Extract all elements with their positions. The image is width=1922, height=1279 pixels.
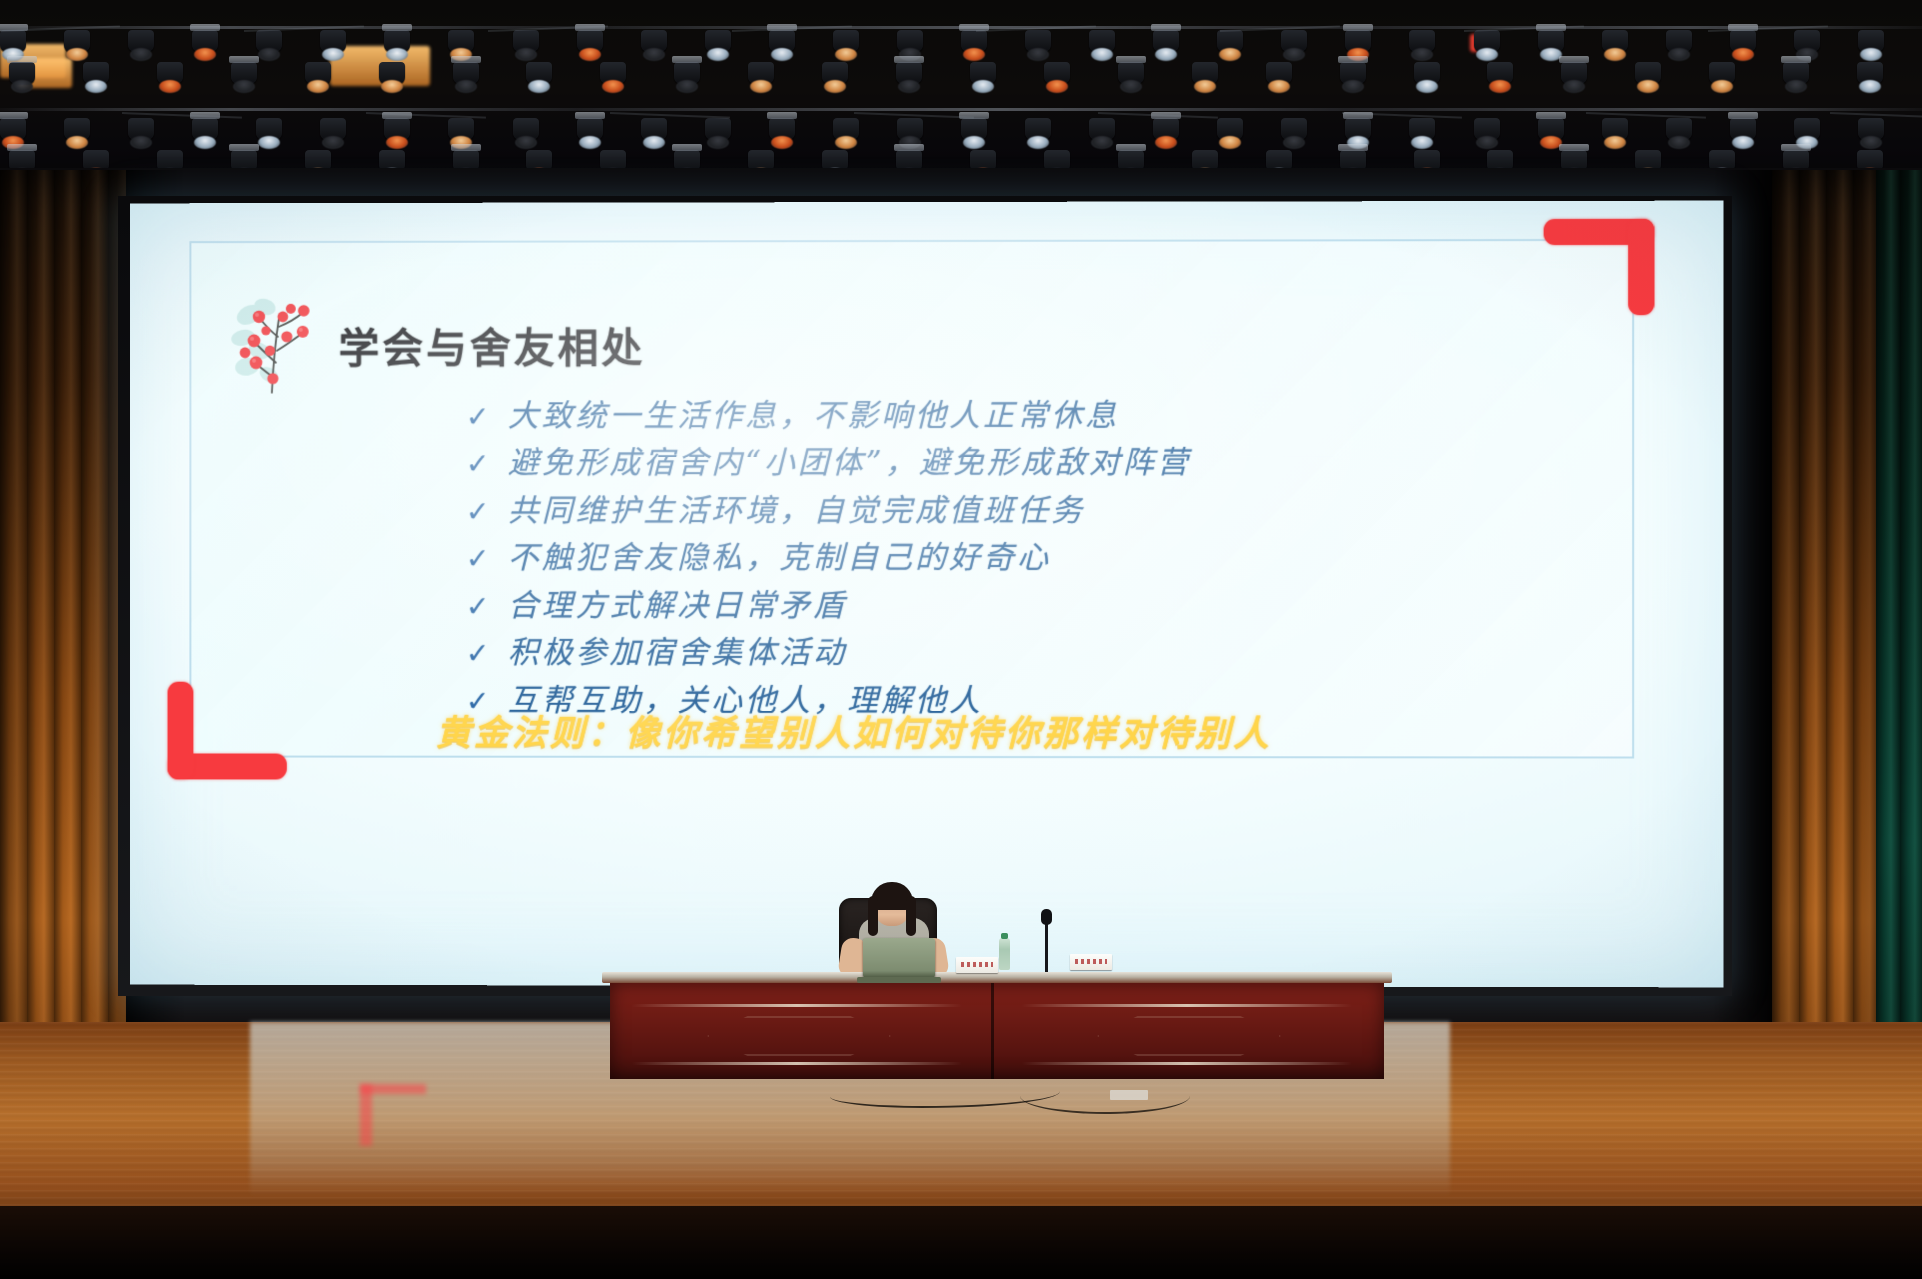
stage-spotlight: [1666, 30, 1692, 52]
stage-spotlight: [822, 62, 848, 84]
slide-bullet-text: 共同维护生活环境，自觉完成值班任务: [508, 495, 1085, 529]
stage-spotlight: [769, 30, 795, 52]
stage-spotlight: [1730, 30, 1756, 52]
stage-spotlight: [577, 118, 603, 140]
microphone: [1045, 920, 1048, 972]
stage-spotlight: [384, 30, 410, 52]
stage-spotlight: [1602, 30, 1628, 52]
stage-spotlight: [448, 30, 474, 52]
stage-spotlight: [1538, 118, 1564, 140]
barn-door-shutter: [1116, 56, 1146, 63]
slide-bullet-text: 大致统一生活作息，不影响他人正常休息: [508, 400, 1119, 434]
barn-door-shutter: [1338, 144, 1368, 151]
stage-spotlight: [320, 118, 346, 140]
name-placard: [1070, 954, 1112, 970]
corner-bracket-bottom-left: [168, 684, 277, 780]
check-icon: ✓: [466, 498, 508, 526]
stage-spotlight: [192, 118, 218, 140]
stage-spotlight: [1474, 118, 1500, 140]
table-trim-line: [1022, 1062, 1352, 1065]
stage-spotlight: [192, 30, 218, 52]
stage-spotlight: [1857, 62, 1883, 84]
barn-door-shutter: [672, 144, 702, 151]
stage-spotlight: [577, 30, 603, 52]
barn-door-shutter: [1116, 144, 1146, 151]
stage-spotlight: [1217, 30, 1243, 52]
table-trim-line: [632, 1062, 962, 1065]
floor-cable: [1020, 1078, 1190, 1114]
stage-spotlight: [0, 118, 26, 140]
stage-spotlight: [1025, 118, 1051, 140]
slide-bullet-text: 合理方式解决日常矛盾: [508, 590, 847, 623]
barn-door-shutter: [1559, 56, 1589, 63]
stage-curtain-right-green: [1876, 170, 1922, 1130]
stage-spotlight: [256, 30, 282, 52]
slide-bullet-text: 不触犯舍友隐私，克制自己的好奇心: [508, 542, 1051, 576]
barn-door-shutter: [1781, 56, 1811, 63]
stage-spotlight: [1025, 30, 1051, 52]
stage-spotlight: [1345, 30, 1371, 52]
laptop: [863, 938, 935, 978]
barn-door-shutter: [7, 56, 37, 63]
paper-on-floor: [1110, 1090, 1148, 1100]
slide-bullet-item: ✓避免形成宿舍内“小团体”，避免形成敌对阵营: [466, 447, 1587, 481]
slide-bullet-item: ✓不触犯舍友隐私，克制自己的好奇心: [466, 542, 1587, 576]
stage-curtain-left: [0, 170, 126, 1130]
check-icon: ✓: [466, 403, 508, 431]
stage-spotlight: [513, 30, 539, 52]
barn-door-shutter: [382, 24, 412, 31]
stage-spotlight: [833, 30, 859, 52]
stage-spotlight: [64, 118, 90, 140]
presenter-and-table-group: [720, 880, 1230, 1055]
slide-bullet-text: 积极参加宿舍集体活动: [508, 637, 847, 671]
stage-spotlight: [970, 62, 996, 84]
stage-spotlight: [1858, 118, 1884, 140]
berry-branch-decoration-icon: [225, 293, 334, 398]
stage-spotlight: [1089, 118, 1115, 140]
stage-spotlight: [896, 62, 922, 84]
barn-door-shutter: [451, 144, 481, 151]
stage-spotlight: [1730, 118, 1756, 140]
barn-door-shutter: [1343, 24, 1373, 31]
stage-spotlight: [1538, 30, 1564, 52]
barn-door-shutter: [894, 144, 924, 151]
barn-door-shutter: [575, 112, 605, 119]
stage-spotlight: [320, 30, 346, 52]
check-icon: ✓: [466, 545, 508, 573]
slide-bullet-item: ✓共同维护生活环境，自觉完成值班任务: [466, 495, 1587, 529]
barn-door-shutter: [0, 112, 28, 119]
stage-spotlight: [231, 62, 257, 84]
stage-spotlight: [1409, 30, 1435, 52]
speaker-table: [602, 972, 1392, 1080]
stage-spotlight: [1709, 62, 1735, 84]
corner-bracket-top-right: [1544, 219, 1655, 315]
stage-spotlight: [1858, 30, 1884, 52]
stage-spotlight: [1153, 118, 1179, 140]
stage-spotlight: [1089, 30, 1115, 52]
stage-spotlight: [384, 118, 410, 140]
barn-door-shutter: [1338, 56, 1368, 63]
table-trim-line: [632, 1004, 962, 1007]
stage-spotlight: [600, 62, 626, 84]
stage-spotlight: [1345, 118, 1371, 140]
stage-spotlight: [961, 118, 987, 140]
slide-title: 学会与舍友相处: [339, 314, 646, 374]
truss-bar: [0, 108, 1922, 111]
barn-door-shutter: [229, 56, 259, 63]
barn-door-shutter: [229, 144, 259, 151]
stage-spotlight: [1794, 118, 1820, 140]
stage-spotlight: [0, 30, 26, 52]
stage-spotlight: [128, 118, 154, 140]
barn-door-shutter: [1781, 144, 1811, 151]
check-icon: ✓: [466, 640, 508, 668]
name-placard: [956, 957, 998, 973]
stage-spotlight: [1602, 118, 1628, 140]
stage-spotlight: [1153, 30, 1179, 52]
stage-spotlight: [305, 62, 331, 84]
stage-spotlight: [1474, 30, 1500, 52]
stage-spotlight: [897, 118, 923, 140]
stage-spotlight: [1217, 118, 1243, 140]
stage-spotlight: [1783, 62, 1809, 84]
stage-spotlight: [1281, 30, 1307, 52]
stage-spotlight: [83, 62, 109, 84]
stage-spotlight: [1414, 62, 1440, 84]
projection-screen: 学会与舍友相处 ✓大致统一生活作息，不影响他人正常休息✓避免形成宿舍内“小团体”…: [130, 201, 1724, 988]
barn-door-shutter: [1559, 144, 1589, 151]
truss-cross-member: [610, 112, 730, 119]
stage-spotlight: [748, 62, 774, 84]
slide-bullet-item: ✓合理方式解决日常矛盾: [466, 590, 1587, 624]
slide-bullet-item: ✓大致统一生活作息，不影响他人正常休息: [466, 399, 1587, 433]
presenter-hair: [871, 882, 913, 910]
stage-front-edge: [0, 1206, 1922, 1279]
stage-spotlight: [157, 62, 183, 84]
check-icon: ✓: [466, 593, 508, 621]
stage-spotlight: [1794, 30, 1820, 52]
auditorium-stage-scene: 学会与舍友相处 ✓大致统一生活作息，不影响他人正常休息✓避免形成宿舍内“小团体”…: [0, 0, 1922, 1279]
slide-bullet-item: ✓积极参加宿舍集体活动: [466, 637, 1587, 671]
stage-spotlight: [705, 118, 731, 140]
stage-spotlight: [1409, 118, 1435, 140]
stage-spotlight: [1192, 62, 1218, 84]
stage-spotlight: [526, 62, 552, 84]
slide-bullet-text: 避免形成宿舍内“小团体”，避免形成敌对阵营: [508, 447, 1191, 481]
barn-door-shutter: [451, 56, 481, 63]
stage-spotlight: [513, 118, 539, 140]
barn-door-shutter: [767, 112, 797, 119]
stage-spotlight: [1118, 62, 1144, 84]
stage-spotlight: [1635, 62, 1661, 84]
stage-spotlight: [1340, 62, 1366, 84]
table-trim-line: [1022, 1004, 1352, 1007]
slide-bullet-list: ✓大致统一生活作息，不影响他人正常休息✓避免形成宿舍内“小团体”，避免形成敌对阵…: [466, 399, 1587, 732]
check-icon: ✓: [466, 451, 508, 479]
stage-spotlight: [256, 118, 282, 140]
stage-spotlight: [1487, 62, 1513, 84]
stage-spotlight: [1281, 118, 1307, 140]
barn-door-shutter: [190, 24, 220, 31]
stage-spotlight: [379, 62, 405, 84]
stage-spotlight: [1666, 118, 1692, 140]
barn-door-shutter: [672, 56, 702, 63]
stage-spotlight: [641, 118, 667, 140]
stage-spotlight: [1561, 62, 1587, 84]
stage-spotlight: [64, 30, 90, 52]
table-top-surface: [602, 972, 1392, 983]
barn-door-shutter: [1151, 24, 1181, 31]
water-bottle: [999, 938, 1010, 970]
stage-curtain-right: [1772, 170, 1884, 1130]
stage-spotlight: [128, 30, 154, 52]
golden-rule-text: 黄金法则：像你希望别人如何对待你那样对待别人: [436, 705, 1271, 756]
stage-spotlight: [1266, 62, 1292, 84]
barn-door-shutter: [1536, 112, 1566, 119]
stage-spotlight: [833, 118, 859, 140]
stage-spotlight: [9, 62, 35, 84]
barn-door-shutter: [894, 56, 924, 63]
stage-spotlight: [897, 30, 923, 52]
stage-spotlight: [705, 30, 731, 52]
stage-spotlight: [641, 30, 667, 52]
stage-spotlight: [453, 62, 479, 84]
stage-spotlight: [448, 118, 474, 140]
table-panel-seam: [991, 983, 994, 1079]
stage-spotlight: [769, 118, 795, 140]
stage-spotlight: [1044, 62, 1070, 84]
barn-door-shutter: [7, 144, 37, 151]
stage-spotlight: [961, 30, 987, 52]
stage-spotlight: [674, 62, 700, 84]
barn-door-shutter: [1728, 112, 1758, 119]
presentation-slide: 学会与舍友相处 ✓大致统一生活作息，不影响他人正常休息✓避免形成宿舍内“小团体”…: [189, 239, 1634, 759]
